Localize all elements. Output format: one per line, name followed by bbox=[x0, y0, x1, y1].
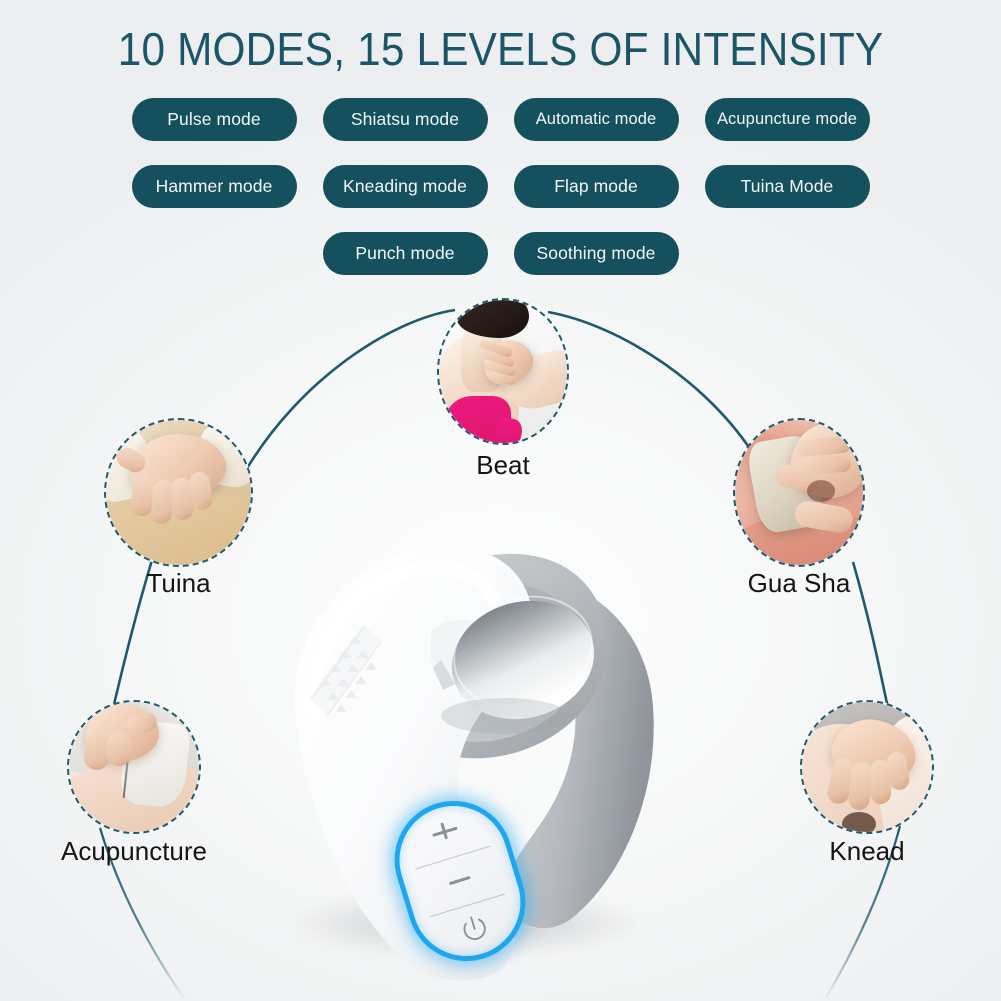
callout-acupuncture[interactable]: Acupuncture bbox=[67, 700, 201, 834]
callout-tuina[interactable]: Tuina bbox=[104, 418, 253, 567]
callout-knead-label: Knead bbox=[829, 836, 904, 867]
callout-gua-sha-label: Gua Sha bbox=[748, 568, 851, 599]
acupuncture-needle-photo bbox=[69, 702, 199, 832]
arc-tuina-beat bbox=[246, 310, 455, 470]
callout-gua-sha[interactable]: Gua Sha bbox=[733, 418, 865, 567]
callout-beat-label: Beat bbox=[476, 450, 530, 481]
callout-tuina-label: Tuina bbox=[146, 568, 210, 599]
callout-acupuncture-circle bbox=[67, 700, 201, 834]
neck-massager-device bbox=[255, 520, 695, 990]
arc-beat-guasha bbox=[548, 312, 762, 468]
back-palm-press-photo bbox=[106, 420, 251, 565]
kneading-hands-photo bbox=[802, 702, 932, 832]
callout-gua-sha-circle bbox=[733, 418, 865, 567]
callout-acupuncture-label: Acupuncture bbox=[61, 836, 207, 867]
callout-beat[interactable]: Beat bbox=[437, 298, 569, 445]
arc-guasha-knead bbox=[853, 562, 890, 716]
callout-beat-circle bbox=[437, 298, 569, 445]
callout-knead-circle bbox=[800, 700, 934, 834]
power-icon bbox=[454, 908, 496, 950]
infographic-canvas: 10 MODES, 15 LEVELS OF INTENSITY Pulse m… bbox=[0, 0, 1001, 1001]
gua-sha-stone-photo bbox=[735, 420, 863, 565]
neck-massage-photo bbox=[439, 300, 567, 443]
callout-tuina-circle bbox=[104, 418, 253, 567]
callout-knead[interactable]: Knead bbox=[800, 700, 934, 834]
